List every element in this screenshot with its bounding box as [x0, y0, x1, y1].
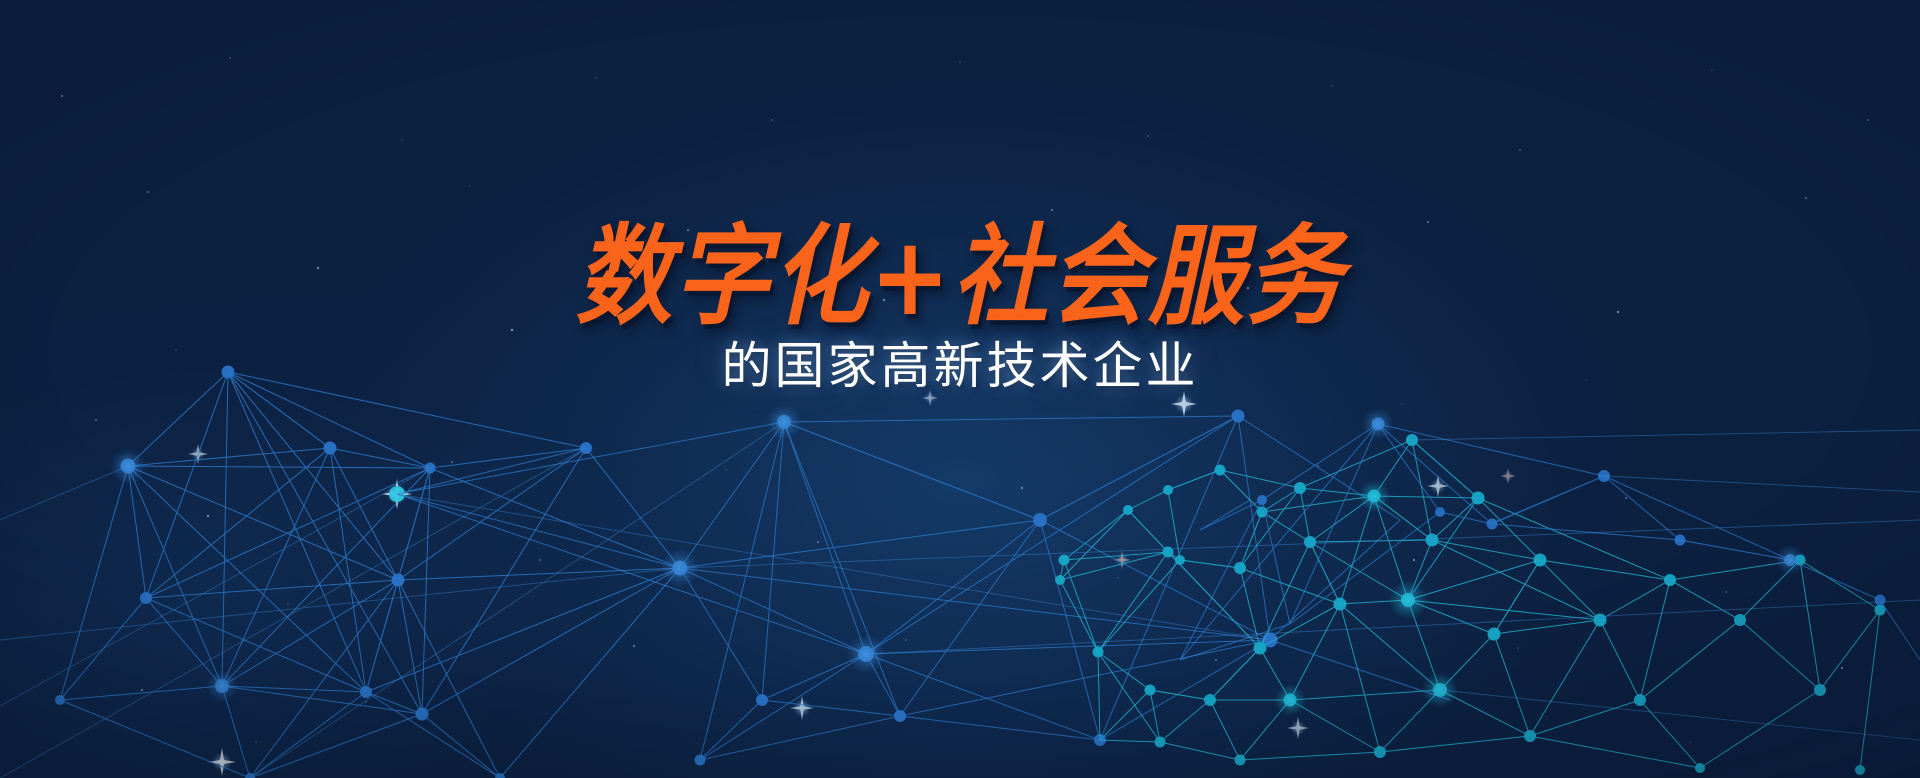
banner-hero: 数字化+社会服务 的国家高新技术企业 — [0, 0, 1920, 778]
background-base — [0, 0, 1920, 778]
